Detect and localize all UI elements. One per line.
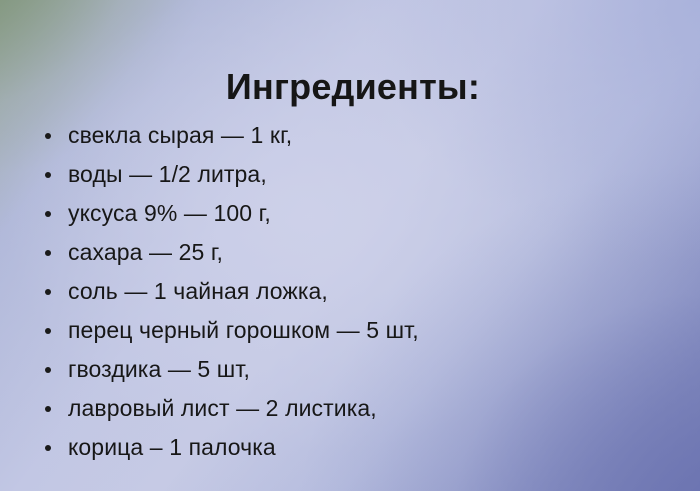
list-item-label: воды — 1/2 литра,	[68, 155, 267, 194]
list-item: перец черный горошком — 5 шт,	[0, 311, 700, 350]
list-item: лавровый лист — 2 листика,	[0, 389, 700, 428]
list-item-label: корица – 1 палочка	[68, 428, 276, 467]
list-item-label: свекла сырая — 1 кг,	[68, 116, 292, 155]
list-item-label: перец черный горошком — 5 шт,	[68, 311, 419, 350]
bullet-icon	[45, 133, 51, 139]
list-item-label: сахара — 25 г,	[68, 233, 223, 272]
bullet-icon	[45, 289, 51, 295]
list-item-label: гвоздика — 5 шт,	[68, 350, 250, 389]
list-item: уксуса 9% — 100 г,	[0, 194, 700, 233]
list-item: соль — 1 чайная ложка,	[0, 272, 700, 311]
list-item: воды — 1/2 литра,	[0, 155, 700, 194]
list-item-label: соль — 1 чайная ложка,	[68, 272, 328, 311]
presentation-slide: Ингредиенты: свекла сырая — 1 кг, воды —…	[0, 0, 700, 491]
bullet-icon	[45, 211, 51, 217]
slide-content: Ингредиенты: свекла сырая — 1 кг, воды —…	[0, 0, 700, 491]
list-item-label: лавровый лист — 2 листика,	[68, 389, 377, 428]
list-item: корица – 1 палочка	[0, 428, 700, 467]
bullet-icon	[45, 367, 51, 373]
bullet-icon	[45, 328, 51, 334]
bullet-icon	[45, 445, 51, 451]
list-item: свекла сырая — 1 кг,	[0, 116, 700, 155]
slide-title: Ингредиенты:	[0, 65, 700, 109]
list-item: сахара — 25 г,	[0, 233, 700, 272]
ingredient-list: свекла сырая — 1 кг, воды — 1/2 литра, у…	[0, 116, 700, 467]
bullet-icon	[45, 250, 51, 256]
list-item-label: уксуса 9% — 100 г,	[68, 194, 271, 233]
bullet-icon	[45, 172, 51, 178]
bullet-icon	[45, 406, 51, 412]
list-item: гвоздика — 5 шт,	[0, 350, 700, 389]
